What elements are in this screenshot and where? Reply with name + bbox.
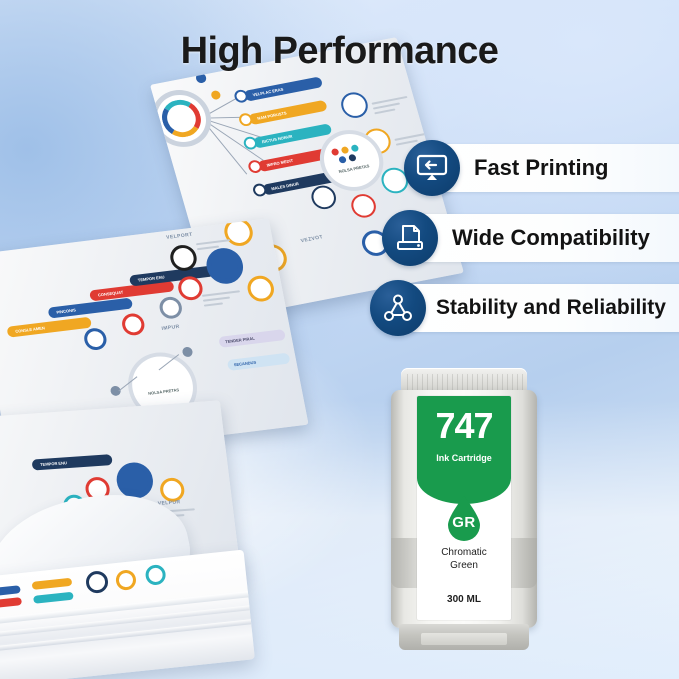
- infographic-pill: [32, 578, 73, 590]
- icon-ring: [85, 570, 109, 594]
- hub-label: NOLSA PRETAS: [133, 382, 195, 400]
- network-nodes-icon: [370, 280, 426, 336]
- feature-label: Stability and Reliability: [436, 296, 666, 320]
- infographic-pill-label: PINCONIS: [55, 304, 76, 317]
- feature-row-fast-printing[interactable]: Fast Printing: [352, 140, 679, 196]
- cartridge-shoulder-right: [507, 538, 537, 588]
- cartridge-label: 747 Ink Cartridge GR Chromatic Green 300…: [417, 396, 511, 620]
- icon-ring: [115, 569, 137, 591]
- feature-label: Fast Printing: [474, 155, 608, 181]
- cartridge-color-name-line1: Chromatic: [441, 547, 487, 558]
- infographic-pill: [33, 592, 74, 604]
- infographic-pill: [0, 585, 21, 598]
- printer-icon: [382, 210, 438, 266]
- cartridge-color-code: GR: [444, 514, 484, 531]
- feature-row-wide-compatibility[interactable]: Wide Compatibility: [352, 210, 679, 266]
- feature-row-stability-reliability[interactable]: Stability and Reliability: [352, 280, 679, 336]
- infographic-pill: [0, 597, 22, 610]
- cartridge-volume: 300 ML: [417, 594, 511, 605]
- feature-list: Fast Printing Wide Compatibility: [352, 140, 679, 350]
- monitor-arrow-icon: [404, 140, 460, 196]
- poster-canvas: VELPLAC ERAS NAM PORUSTS RICTUS NONUR IM…: [0, 0, 679, 679]
- cartridge-base: [399, 624, 529, 650]
- stack-edge: [0, 619, 251, 655]
- cartridge-color-name: Chromatic Green: [417, 546, 511, 572]
- infographic-pill-label: TEMPOR ENU: [40, 457, 68, 470]
- icon-ring: [145, 564, 167, 586]
- feature-label: Wide Compatibility: [452, 225, 650, 251]
- cartridge-color-name-line2: Green: [450, 560, 478, 571]
- ink-cartridge: 747 Ink Cartridge GR Chromatic Green 300…: [391, 368, 537, 653]
- cartridge-subtitle: Ink Cartridge: [417, 453, 511, 463]
- page-title: High Performance: [0, 30, 679, 73]
- ink-droplet-icon: GR: [444, 494, 484, 541]
- cartridge-model-number: 747: [417, 408, 511, 444]
